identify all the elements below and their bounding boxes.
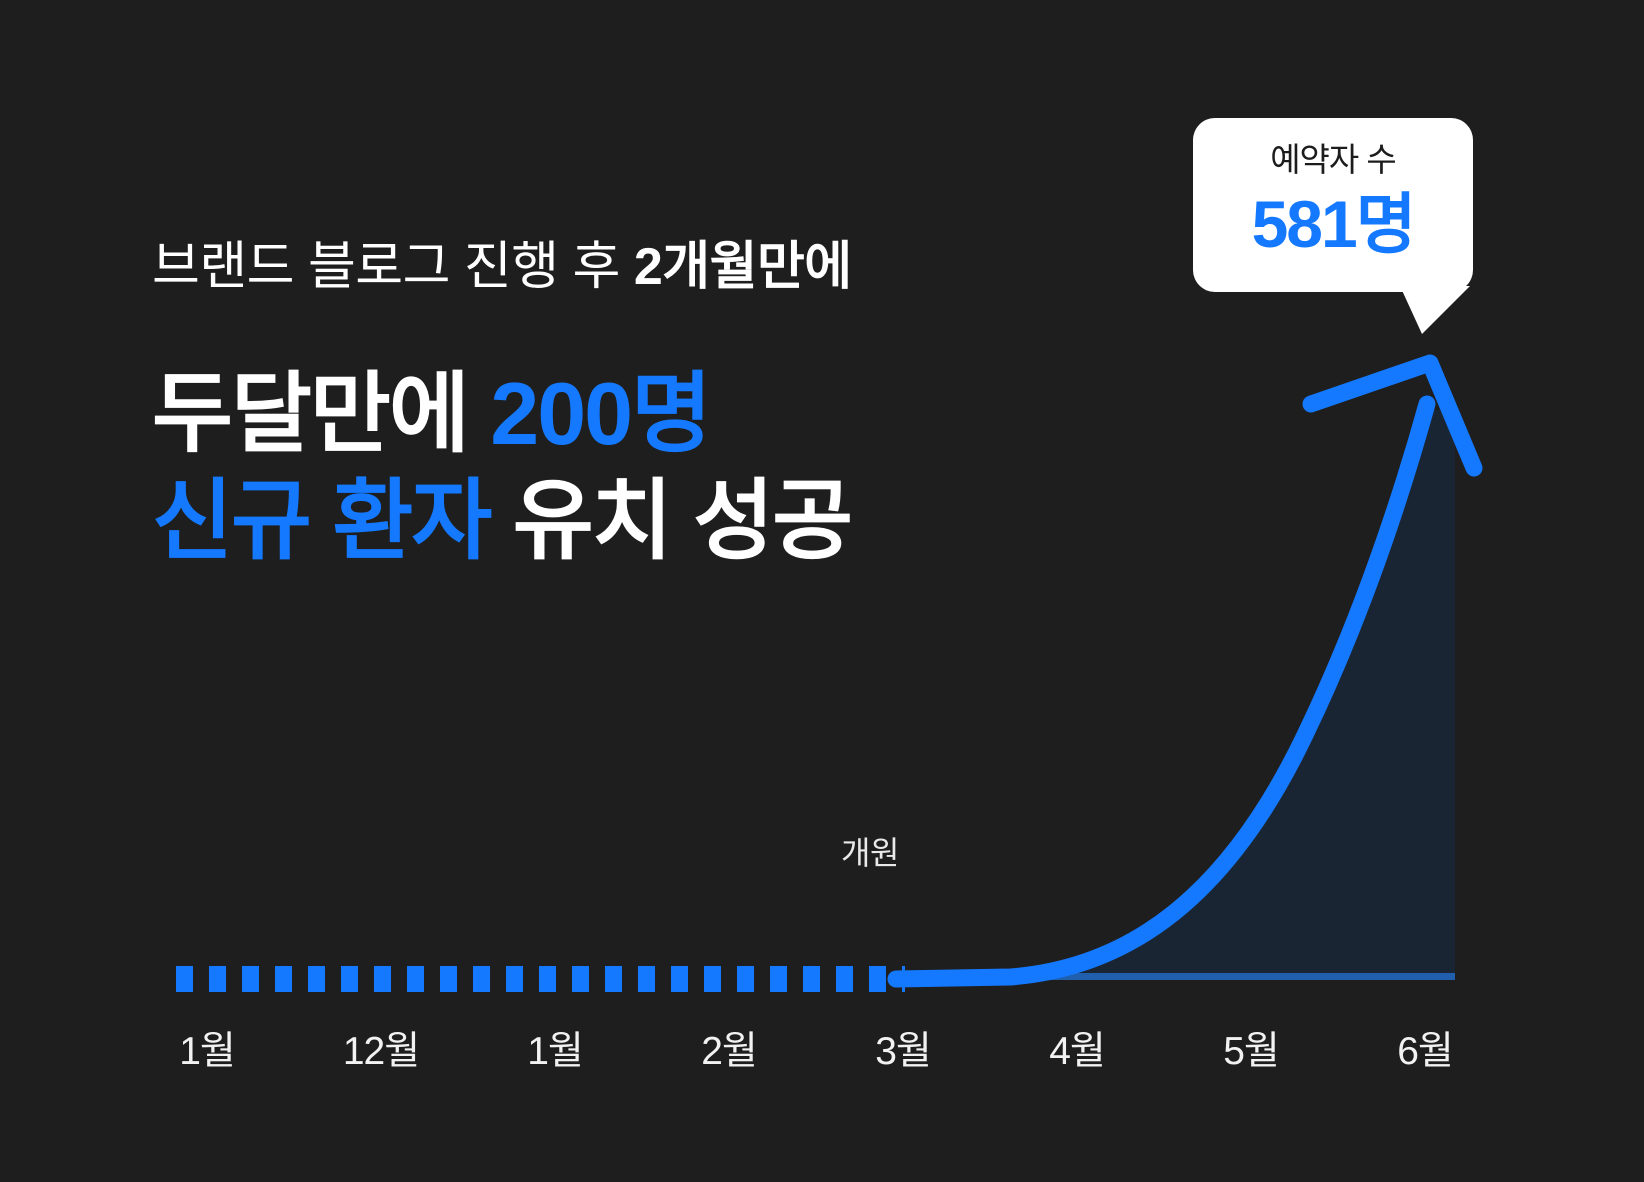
headline-row-1: 두달만에 200명 [152,364,710,463]
eyebrow-strong-part: 2개월만에 [634,238,852,296]
x-axis-tick-0: 1월 [120,1020,294,1076]
headline-text: 두달만에 200명 신규 환자 유치 성공 [152,360,1112,575]
callout-tail [1400,286,1470,334]
x-axis-labels: 1월 12월 1월 2월 3월 4월 5월 6월 [120,1020,1512,1076]
x-axis-tick-7: 6월 [1338,1020,1512,1076]
headline-line1-accent: 200명 [490,364,710,463]
x-axis-tick-2: 1월 [468,1020,642,1076]
x-axis-tick-4: 3월 [816,1020,990,1076]
infographic-canvas: 브랜드 블로그 진행 후 2개월만에 두달만에 200명 신규 환자 유치 성공… [0,0,1644,1182]
headline-line2-white: 유치 성공 [490,471,851,570]
open-annotation-label: 개원 [770,828,970,874]
callout-title: 예약자 수 [1193,140,1473,180]
x-axis-tick-1: 12월 [294,1020,468,1076]
headline-row-2: 신규 환자 유치 성공 [152,467,1112,574]
headline-line1-white: 두달만에 [152,364,490,463]
headline-block: 브랜드 블로그 진행 후 2개월만에 두달만에 200명 신규 환자 유치 성공 [152,238,1112,575]
x-axis-tick-3: 2월 [642,1020,816,1076]
value-callout: 예약자 수 581명 [1193,118,1473,292]
eyebrow-text: 브랜드 블로그 진행 후 2개월만에 [152,238,1112,298]
headline-line2-accent: 신규 환자 [152,471,490,570]
x-axis-tick-5: 4월 [990,1020,1164,1076]
callout-value: 581명 [1193,184,1473,265]
eyebrow-light-part: 브랜드 블로그 진행 후 [152,238,634,296]
x-axis-tick-6: 5월 [1164,1020,1338,1076]
